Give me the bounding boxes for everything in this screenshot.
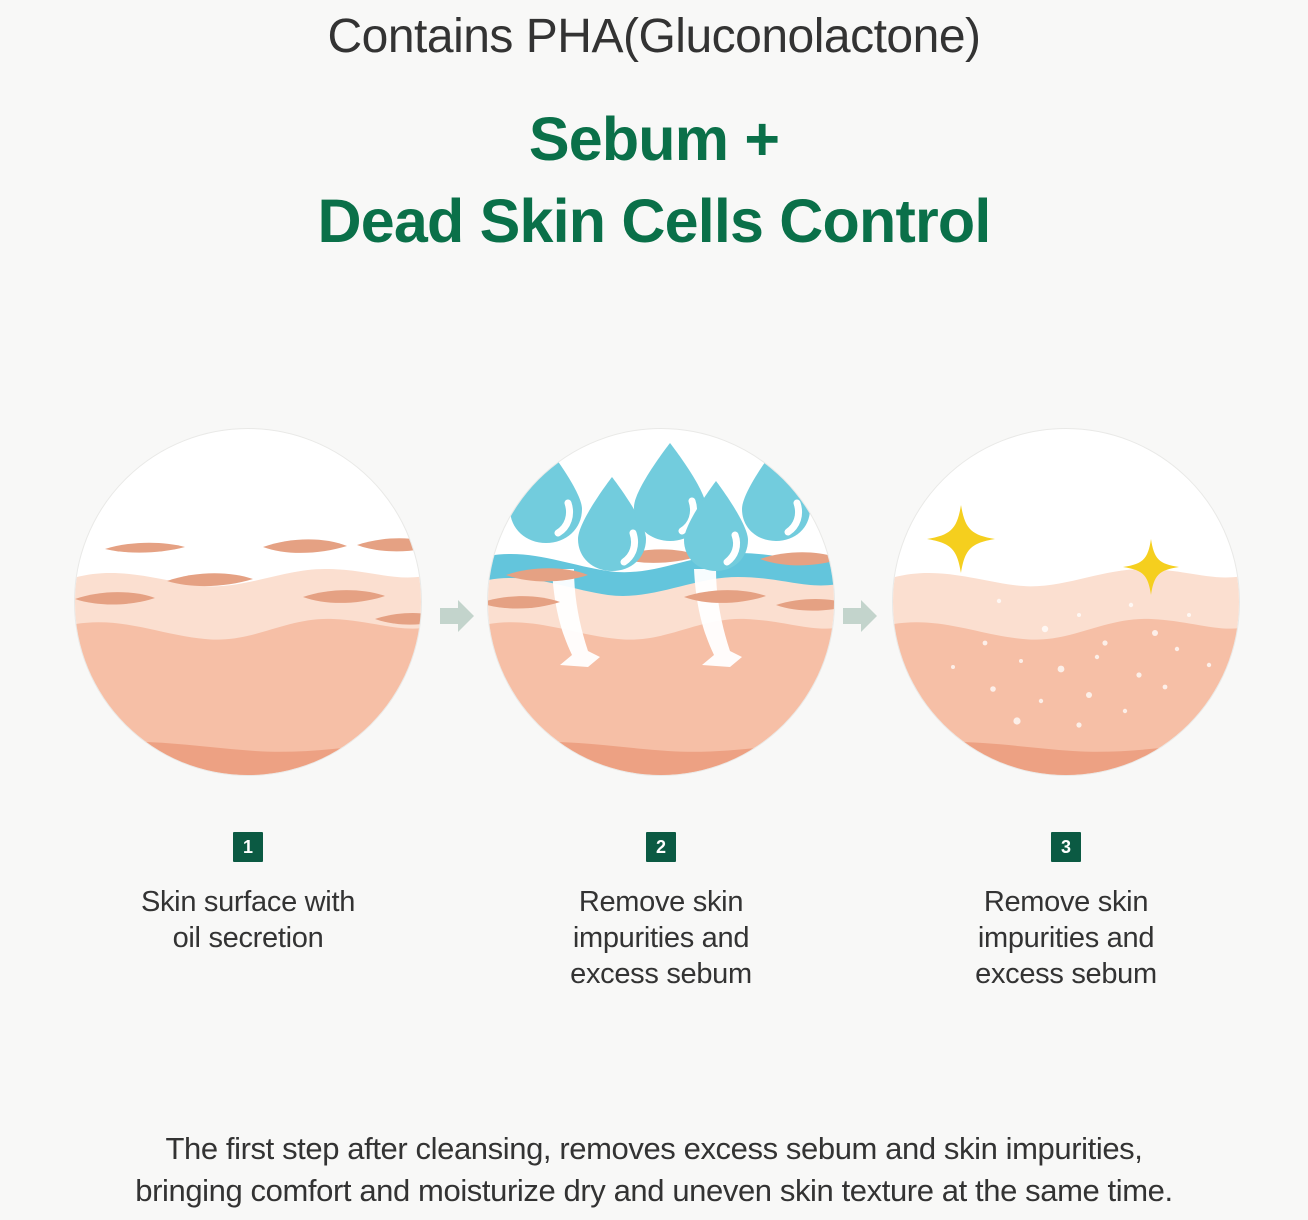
footer-line-1: The first step after cleansing, removes … (0, 1128, 1308, 1170)
water-droplets-cleansing-icon (488, 429, 835, 776)
step-1-illustration (74, 428, 422, 776)
page-title: Sebum + Dead Skin Cells Control (0, 98, 1308, 262)
eyebrow-text: Contains PHA(Gluconolactone) (0, 6, 1308, 68)
header-block: Contains PHA(Gluconolactone) Sebum + Dea… (0, 0, 1308, 262)
clean-skin-sparkle-icon (893, 429, 1240, 776)
step-3-circle (892, 428, 1240, 776)
step-3-caption-line-1: Remove skin (892, 884, 1240, 920)
step-3-caption-line-3: excess sebum (892, 956, 1240, 992)
headline-line-2: Dead Skin Cells Control (0, 180, 1308, 262)
arrow-step-1-to-2-icon (437, 596, 477, 636)
arrow-step-2-to-3-icon (840, 596, 880, 636)
step-3-caption-line-2: impurities and (892, 920, 1240, 956)
step-1-caption-column: 1 Skin surface with oil secretion (74, 832, 422, 956)
step-2-badge: 2 (646, 832, 676, 862)
step-1-circle (74, 428, 422, 776)
step-3-caption: Remove skin impurities and excess sebum (892, 884, 1240, 992)
step-1-caption-line-1: Skin surface with (74, 884, 422, 920)
headline-line-1: Sebum + (0, 98, 1308, 180)
footer-line-2: bringing comfort and moisturize dry and … (0, 1170, 1308, 1212)
step-2-illustration (487, 428, 835, 776)
step-3-badge: 3 (1051, 832, 1081, 862)
step-2-caption-line-1: Remove skin (487, 884, 835, 920)
step-2-caption-line-3: excess sebum (487, 956, 835, 992)
step-1-caption-line-2: oil secretion (74, 920, 422, 956)
steps-illustration-row (0, 428, 1308, 788)
step-3-caption-column: 3 Remove skin impurities and excess sebu… (892, 832, 1240, 992)
step-2-caption-column: 2 Remove skin impurities and excess sebu… (487, 832, 835, 992)
step-3-illustration (892, 428, 1240, 776)
infographic-page: Contains PHA(Gluconolactone) Sebum + Dea… (0, 0, 1308, 1220)
step-2-circle (487, 428, 835, 776)
step-2-caption: Remove skin impurities and excess sebum (487, 884, 835, 992)
sparkle-star-1 (927, 505, 995, 573)
footer-description: The first step after cleansing, removes … (0, 1128, 1308, 1212)
skin-surface-oil-icon (75, 429, 422, 776)
step-captions-row: 1 Skin surface with oil secretion 2 Remo… (0, 832, 1308, 1022)
step-2-caption-line-2: impurities and (487, 920, 835, 956)
step-1-badge: 1 (233, 832, 263, 862)
step-1-caption: Skin surface with oil secretion (74, 884, 422, 956)
